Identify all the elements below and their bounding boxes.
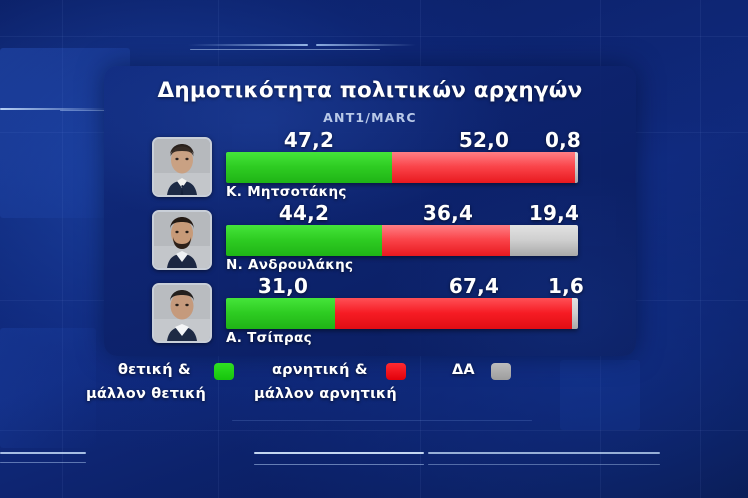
backdrop-accent-line — [0, 108, 110, 110]
page-title: Δημοτικότητα πολιτικών αρχηγών — [104, 78, 636, 103]
legend-sublabel-positive: μάλλον θετική — [86, 386, 206, 402]
backdrop-accent-line — [428, 452, 660, 454]
backdrop-grid-line — [0, 36, 748, 37]
backdrop-accent-line — [232, 420, 532, 421]
chart-row: 31,0 67,4 1,6 Α. Τσίπρας — [104, 274, 636, 347]
value-label-positive: 47,2 — [284, 128, 334, 152]
value-label-no-answer: 0,8 — [545, 128, 581, 152]
backdrop-accent-line — [0, 462, 86, 463]
bar-segment-no-answer — [572, 298, 578, 329]
value-label-negative: 67,4 — [449, 274, 499, 298]
stacked-bar — [226, 298, 578, 329]
backdrop-grid-line — [700, 0, 701, 498]
legend-label-no-answer: ΔΑ — [452, 362, 475, 378]
value-label-positive: 31,0 — [258, 274, 308, 298]
value-label-negative: 36,4 — [423, 201, 473, 225]
avatar — [152, 283, 212, 343]
backdrop-glow-block — [0, 328, 96, 448]
backdrop-accent-line — [254, 464, 424, 465]
value-label-no-answer: 19,4 — [529, 201, 579, 225]
politician-name: Ν. Ανδρουλάκης — [226, 257, 353, 273]
bar-segment-negative — [392, 152, 575, 183]
backdrop-grid-line — [0, 430, 748, 431]
avatar — [152, 210, 212, 270]
avatar — [152, 137, 212, 197]
bar-segment-positive — [226, 225, 382, 256]
backdrop-accent-line — [190, 49, 380, 50]
bar-area: 44,2 36,4 19,4 Ν. Ανδρουλάκης — [226, 201, 578, 274]
value-label-positive: 44,2 — [279, 201, 329, 225]
legend-top-row: θετική & αρνητική & ΔΑ — [86, 362, 566, 384]
stacked-bar — [226, 225, 578, 256]
bar-segment-positive — [226, 152, 392, 183]
bar-segment-negative — [335, 298, 572, 329]
backdrop-accent-line — [0, 452, 86, 454]
bar-segment-no-answer — [575, 152, 578, 183]
backdrop-grid-line — [62, 0, 63, 498]
legend-sublabel-negative: μάλλον αρνητική — [254, 386, 397, 402]
bar-segment-positive — [226, 298, 335, 329]
value-label-no-answer: 1,6 — [548, 274, 584, 298]
legend-label-positive: θετική & — [118, 362, 191, 378]
bar-segment-no-answer — [510, 225, 578, 256]
value-labels: 31,0 67,4 1,6 — [226, 274, 578, 296]
backdrop-accent-line — [428, 464, 660, 465]
broadcast-graphic: Δημοτικότητα πολιτικών αρχηγών ANT1/MARC — [0, 0, 748, 498]
backdrop-accent-line — [254, 452, 424, 454]
value-labels: 44,2 36,4 19,4 — [226, 201, 578, 223]
legend-label-negative: αρνητική & — [272, 362, 368, 378]
backdrop-accent-line — [188, 44, 308, 46]
chart-panel: Δημοτικότητα πολιτικών αρχηγών ANT1/MARC — [104, 66, 636, 356]
bar-area: 47,2 52,0 0,8 Κ. Μητσοτάκης — [226, 128, 578, 201]
backdrop-accent-line — [60, 110, 106, 111]
stacked-bar — [226, 152, 578, 183]
legend-swatch-positive — [214, 363, 234, 380]
legend-swatch-negative — [386, 363, 406, 380]
bar-segment-negative — [382, 225, 510, 256]
pollster-subtitle: ANT1/MARC — [104, 110, 636, 125]
backdrop-accent-line — [316, 44, 416, 46]
value-label-negative: 52,0 — [459, 128, 509, 152]
politician-name: Κ. Μητσοτάκης — [226, 184, 347, 200]
value-labels: 47,2 52,0 0,8 — [226, 128, 578, 150]
bar-area: 31,0 67,4 1,6 Α. Τσίπρας — [226, 274, 578, 347]
legend-swatch-no-answer — [491, 363, 511, 380]
backdrop-glow-block — [560, 360, 640, 430]
legend: θετική & αρνητική & ΔΑ μάλλον θετική μάλ… — [86, 362, 566, 408]
legend-bottom-row: μάλλον θετική μάλλον αρνητική — [86, 386, 566, 408]
chart-row: 44,2 36,4 19,4 Ν. Ανδρουλάκης — [104, 201, 636, 274]
chart-row: 47,2 52,0 0,8 Κ. Μητσοτάκης — [104, 128, 636, 201]
chart-rows: 47,2 52,0 0,8 Κ. Μητσοτάκης — [104, 128, 636, 347]
politician-name: Α. Τσίπρας — [226, 330, 312, 346]
